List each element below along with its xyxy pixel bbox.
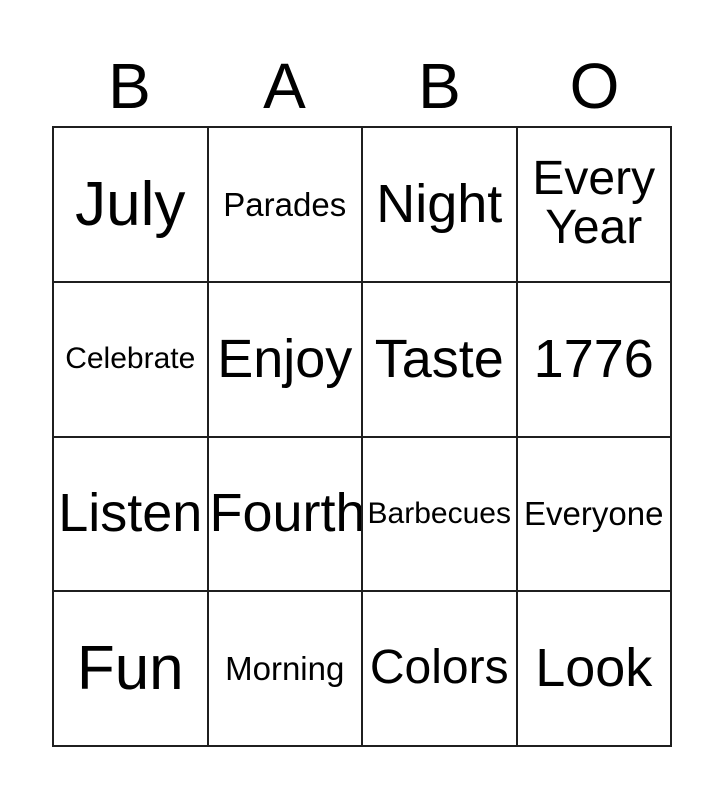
header-letter-2: A xyxy=(207,46,362,120)
bingo-cell[interactable]: Every Year xyxy=(518,128,673,283)
header-letter-1: B xyxy=(52,46,207,120)
header-letter-4: O xyxy=(517,46,672,120)
bingo-cell-label: July xyxy=(55,173,206,236)
bingo-cell[interactable]: Fourth xyxy=(209,438,364,593)
bingo-cell[interactable]: Enjoy xyxy=(209,283,364,438)
bingo-grid: July Parades Night Every Year Celebrate … xyxy=(52,126,672,747)
bingo-cell-label: Enjoy xyxy=(210,332,361,387)
bingo-row: Listen Fourth Barbecues Everyone xyxy=(54,438,672,593)
bingo-cell[interactable]: Listen xyxy=(54,438,209,593)
bingo-cell-label: Fourth xyxy=(210,486,361,541)
bingo-cell-label: Colors xyxy=(364,644,515,693)
bingo-cell[interactable]: Look xyxy=(518,592,673,747)
bingo-cell-label: Listen xyxy=(55,486,206,541)
bingo-cell-label: Celebrate xyxy=(55,344,206,375)
bingo-cell[interactable]: Fun xyxy=(54,592,209,747)
bingo-cell[interactable]: Parades xyxy=(209,128,364,283)
bingo-row: Fun Morning Colors Look xyxy=(54,592,672,747)
bingo-cell-label: Night xyxy=(364,177,515,232)
bingo-cell[interactable]: Morning xyxy=(209,592,364,747)
bingo-cell[interactable]: 1776 xyxy=(518,283,673,438)
bingo-cell-label: Every Year xyxy=(519,155,670,253)
bingo-row: Celebrate Enjoy Taste 1776 xyxy=(54,283,672,438)
bingo-cell[interactable]: July xyxy=(54,128,209,283)
bingo-cell[interactable]: Taste xyxy=(363,283,518,438)
bingo-cell-label: Look xyxy=(519,641,670,696)
header-letter-3: B xyxy=(362,46,517,120)
bingo-card: B A B O July Parades Night Every Year Ce… xyxy=(0,0,723,800)
bingo-cell-label: Fun xyxy=(55,637,206,700)
bingo-cell[interactable]: Celebrate xyxy=(54,283,209,438)
bingo-cell-label: Morning xyxy=(210,652,361,686)
bingo-cell-label: Barbecues xyxy=(364,499,515,530)
bingo-cell[interactable]: Barbecues xyxy=(363,438,518,593)
bingo-cell[interactable]: Everyone xyxy=(518,438,673,593)
bingo-cell-label: Taste xyxy=(364,332,515,387)
bingo-cell[interactable]: Night xyxy=(363,128,518,283)
bingo-header-row: B A B O xyxy=(52,46,672,120)
bingo-cell-label: 1776 xyxy=(519,332,670,387)
bingo-row: July Parades Night Every Year xyxy=(54,128,672,283)
bingo-cell[interactable]: Colors xyxy=(363,592,518,747)
bingo-cell-label: Parades xyxy=(210,188,361,222)
bingo-cell-label: Everyone xyxy=(519,497,670,531)
